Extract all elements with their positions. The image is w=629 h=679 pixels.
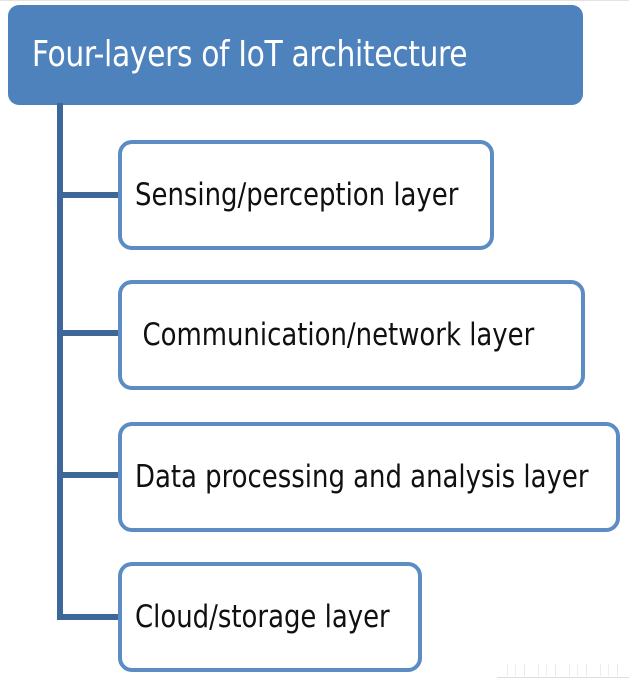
connector-branch-3 xyxy=(57,472,121,478)
connector-trunk-line xyxy=(57,103,63,620)
page-bottom-rule xyxy=(497,677,629,678)
page-top-rule xyxy=(0,0,629,1)
layer-node-communication: Communication/network layer xyxy=(118,280,585,390)
layer-node-label: Data processing and analysis layer xyxy=(122,461,589,494)
layer-node-sensing: Sensing/perception layer xyxy=(118,140,494,250)
layer-node-cloud-storage: Cloud/storage layer xyxy=(118,562,422,672)
connector-branch-1 xyxy=(57,192,121,198)
layer-node-data-processing: Data processing and analysis layer xyxy=(118,422,620,532)
layer-node-label: Sensing/perception layer xyxy=(122,179,458,212)
layer-node-label: Communication/network layer xyxy=(122,319,534,352)
diagram-title-label: Four-layers of IoT architecture xyxy=(8,36,467,74)
iot-architecture-diagram: Four-layers of IoT architecture Sensing/… xyxy=(0,0,629,679)
connector-branch-4 xyxy=(57,614,121,620)
connector-branch-2 xyxy=(57,330,121,336)
diagram-title-box: Four-layers of IoT architecture xyxy=(8,5,583,105)
layer-node-label: Cloud/storage layer xyxy=(122,601,390,634)
scan-artifact xyxy=(500,664,629,676)
